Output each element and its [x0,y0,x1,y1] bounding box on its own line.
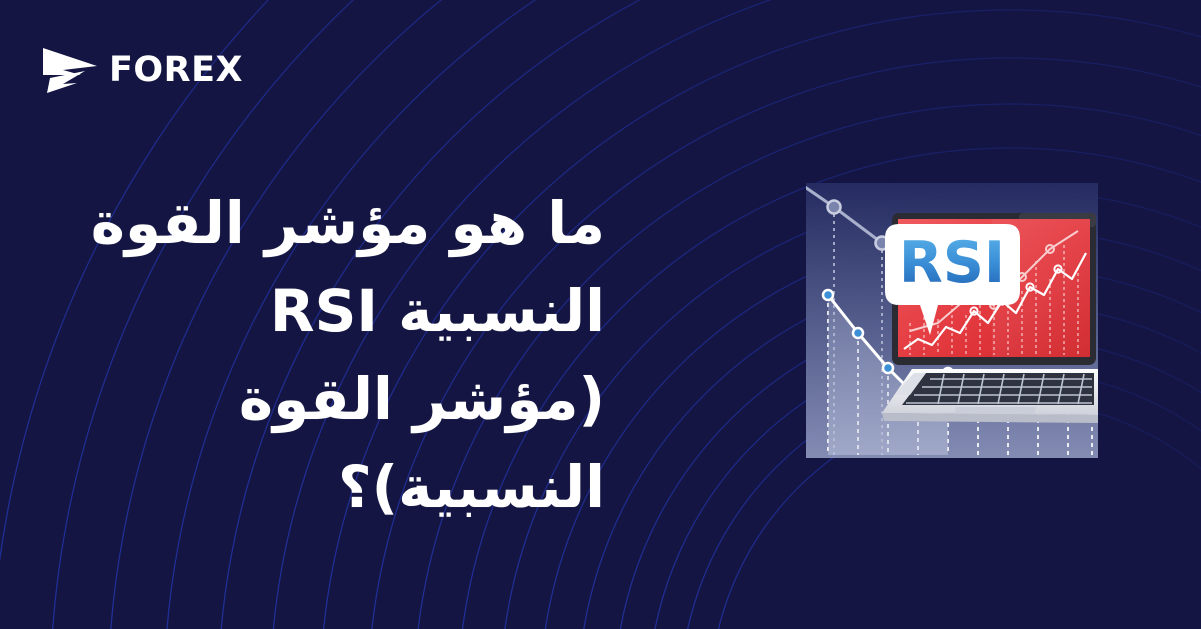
brand-logo[interactable]: FOREX [41,44,243,96]
laptop-rsi-chart-illustration: RSI [806,183,1098,460]
brand-wordmark: FOREX [109,53,243,88]
headline-line-1: ما هو مؤشر القوة [0,179,605,267]
laptop-base [882,369,1098,423]
brand-wordmark-text: FOREX [109,53,243,88]
headline-line-4: النسبية)؟ [0,443,605,531]
page-title: ما هو مؤشر القوة النسبية RSI (مؤشر القوة… [0,179,605,532]
headline-line-3: (مؤشر القوة [0,355,605,443]
headline-line-2: النسبية RSI [0,267,605,355]
rsi-bubble-label: RSI [899,230,1005,296]
forex-lightning-mark [41,44,99,96]
poster-canvas: FOREX ما هو مؤشر القوة النسبية RSI (مؤشر… [0,0,1201,629]
